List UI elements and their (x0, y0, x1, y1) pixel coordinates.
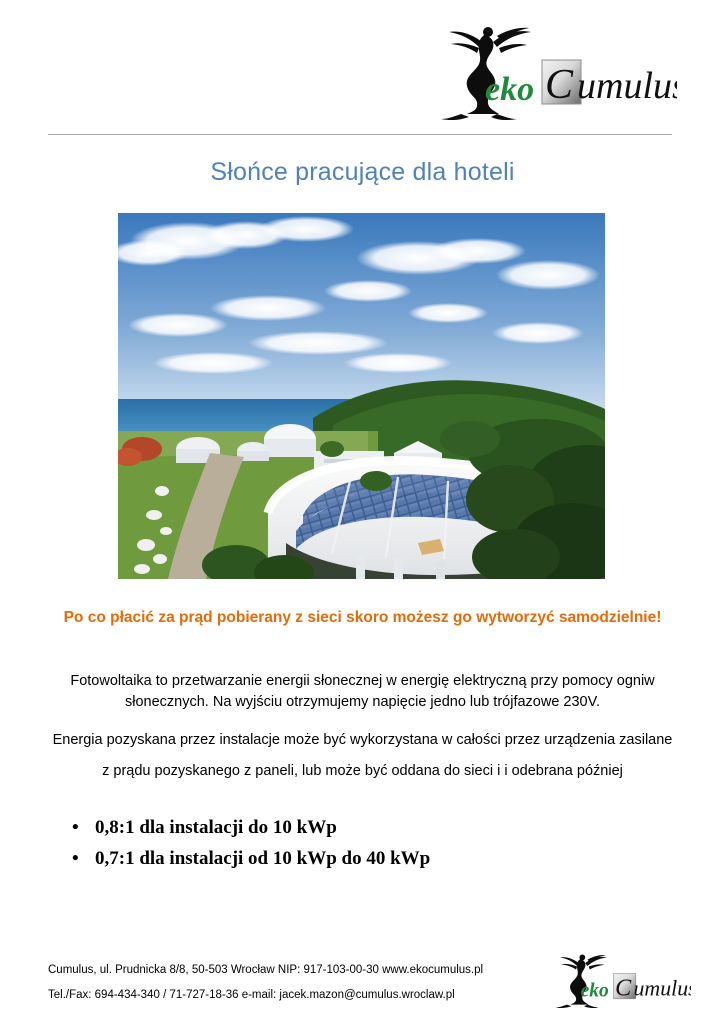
list-item: • 0,8:1 dla instalacji do 10 kWp (60, 812, 680, 843)
bullet-marker-icon: • (72, 812, 79, 843)
list-item-label: 0,8:1 dla instalacji do 10 kWp (95, 817, 337, 838)
footer-line-contact: Tel./Fax: 694-434-340 / 71-727-18-36 e-m… (48, 983, 518, 1008)
logo-cumulus-text: umulus (577, 65, 677, 107)
logo-eko-text: eko (485, 71, 534, 108)
ekocumulus-logo-small: eko C umulus (553, 950, 691, 1012)
bullet-marker-icon: • (72, 843, 79, 874)
paragraph-intro: Fotowoltaika to przetwarzanie energii sł… (48, 671, 677, 713)
page-footer: Cumulus, ul. Prudnicka 8/8, 50-503 Wrocł… (0, 948, 725, 1024)
footer-contact: Cumulus, ul. Prudnicka 8/8, 50-503 Wrocł… (48, 958, 518, 1008)
hero-photo-artwork (118, 213, 605, 579)
promo-heading: Po co płacić za prąd pobierany z sieci s… (48, 607, 677, 628)
page-title: Słońce pracujące dla hoteli (48, 158, 677, 187)
header-divider (48, 134, 672, 135)
ekocumulus-logo: eko C umulus (437, 22, 677, 124)
logo-artwork-small: eko C umulus (553, 950, 691, 1012)
list-item-label: 0,7:1 dla instalacji od 10 kWp do 40 kWp (95, 848, 430, 869)
list-item: • 0,7:1 dla instalacji od 10 kWp do 40 k… (60, 843, 680, 874)
ratio-list: • 0,8:1 dla instalacji do 10 kWp • 0,7:1… (60, 812, 680, 874)
paragraph-usage: Energia pozyskana przez instalacje może … (48, 725, 677, 787)
footer-line-address: Cumulus, ul. Prudnicka 8/8, 50-503 Wrocł… (48, 958, 518, 983)
logo-artwork: eko C umulus (437, 22, 677, 124)
logo-cumulus-initial-small: C (615, 974, 632, 1001)
logo-cumulus-text-small: umulus (634, 976, 692, 1000)
page-header: eko C umulus (0, 0, 725, 140)
logo-eko-text-small: eko (581, 981, 609, 1002)
logo-cumulus-initial: C (545, 62, 574, 108)
hero-photo (118, 213, 605, 579)
